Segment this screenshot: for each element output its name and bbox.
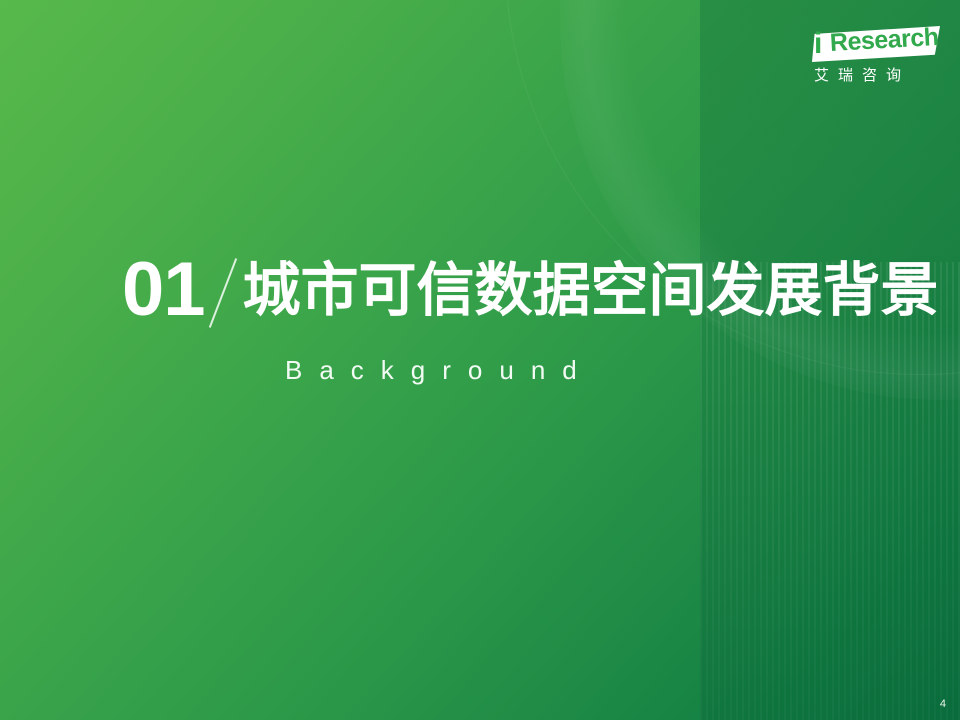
headline-row: 01 城市可信数据空间发展背景 xyxy=(122,248,939,332)
page-number: 4 xyxy=(940,698,946,710)
logo-wordmark-chinese: 艾瑞咨询 xyxy=(814,64,910,85)
presentation-slide: i Research 艾瑞咨询 01 城市可信数据空间发展背景 Backgrou… xyxy=(0,0,960,720)
logo-wordmark: Research xyxy=(829,25,939,56)
section-subtitle: Background xyxy=(285,355,594,386)
section-headline: 01 城市可信数据空间发展背景 xyxy=(0,248,960,348)
section-title: 城市可信数据空间发展背景 xyxy=(243,248,939,332)
logo-i-mark: i xyxy=(814,29,822,59)
slash-divider-icon xyxy=(205,248,243,332)
section-number: 01 xyxy=(122,248,205,332)
iresearch-logo: i Research 艾瑞咨询 xyxy=(806,20,946,98)
